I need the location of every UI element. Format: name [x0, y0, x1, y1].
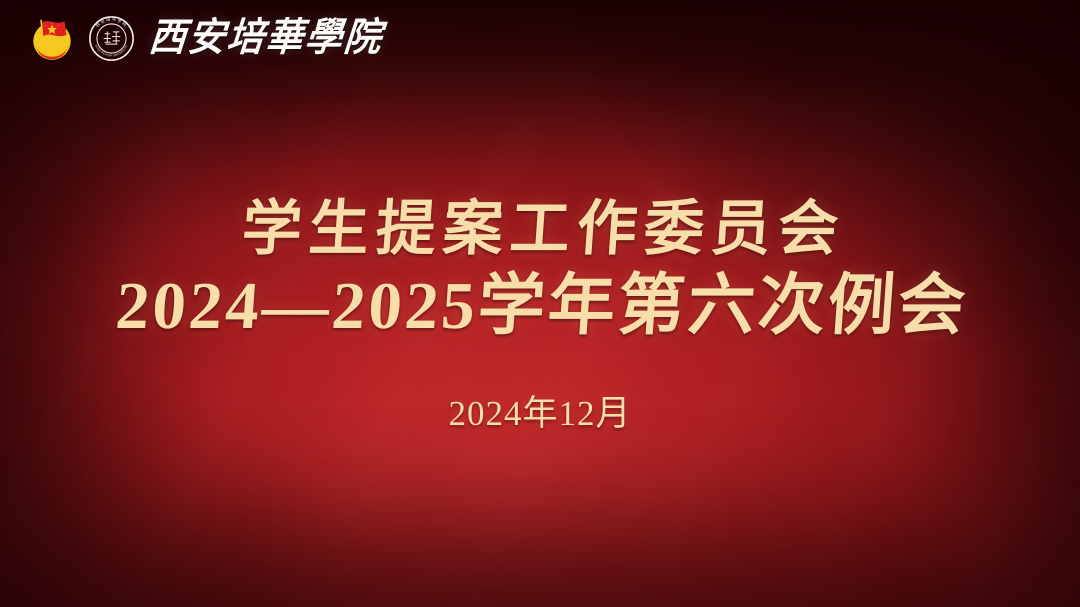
date-line: 2024年12月 [448, 396, 631, 431]
title-line-secondary: 2024—2025学年第六次例会 [110, 273, 970, 340]
brand-lockup: 中 国 共 青 西安培华学院 [26, 10, 383, 66]
title-line-primary: 学生提案工作委员会 [233, 199, 847, 259]
title-block: 学生提案工作委员会 2024—2025学年第六次例会 2024年12月 [0, 0, 1080, 607]
presentation-title-slide: 中 国 共 青 西安培华学院 [0, 0, 1080, 607]
communist-youth-league-emblem-icon: 中 国 共 青 [26, 12, 78, 64]
brand-name-text: 西安培華學院 [147, 18, 384, 57]
university-seal-icon: 西安培华学院 XI'AN PEIHUA UNIVERSITY [88, 15, 135, 62]
